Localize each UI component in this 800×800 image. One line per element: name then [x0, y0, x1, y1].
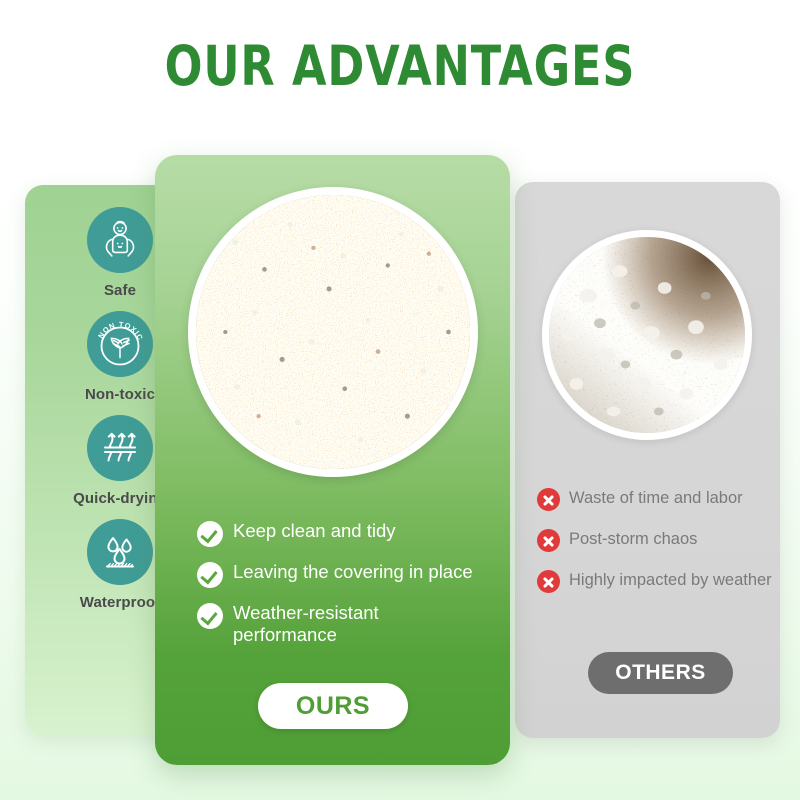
page-title: OUR ADVANTAGES	[40, 34, 760, 98]
pro-text: Leaving the covering in place	[233, 561, 473, 583]
waterproof-droplets-icon	[87, 519, 153, 585]
pro-text: Keep clean and tidy	[233, 520, 396, 542]
others-panel: Waste of time and labor Post-storm chaos…	[515, 182, 780, 738]
pros-list: Keep clean and tidy Leaving the covering…	[197, 520, 487, 660]
non-toxic-leaf-badge-icon: NON TOXIC	[87, 311, 153, 377]
fine-gravel-texture-photo	[188, 187, 478, 477]
cross-circle-icon	[537, 570, 560, 593]
svg-text:NON TOXIC: NON TOXIC	[96, 320, 145, 342]
cross-circle-icon	[537, 529, 560, 552]
con-item: Post-storm chaos	[537, 528, 787, 552]
pro-text: Weather-resistant performance	[233, 602, 487, 646]
cons-list: Waste of time and labor Post-storm chaos…	[537, 487, 787, 610]
pro-item: Leaving the covering in place	[197, 561, 487, 588]
con-text: Waste of time and labor	[569, 487, 743, 509]
check-circle-icon	[197, 603, 223, 629]
others-badge: OTHERS	[588, 652, 733, 694]
quick-drying-airflow-icon	[87, 415, 153, 481]
check-circle-icon	[197, 521, 223, 547]
con-text: Highly impacted by weather	[569, 569, 772, 591]
ours-badge: OURS	[258, 683, 408, 729]
check-circle-icon	[197, 562, 223, 588]
coarse-white-gravel-with-dirt-photo	[542, 230, 752, 440]
ours-panel: Keep clean and tidy Leaving the covering…	[155, 155, 510, 765]
baby-safe-hands-icon	[87, 207, 153, 273]
pro-item: Weather-resistant performance	[197, 602, 487, 646]
cross-circle-icon	[537, 488, 560, 511]
con-item: Highly impacted by weather	[537, 569, 787, 593]
con-text: Post-storm chaos	[569, 528, 697, 550]
con-item: Waste of time and labor	[537, 487, 787, 511]
pro-item: Keep clean and tidy	[197, 520, 487, 547]
